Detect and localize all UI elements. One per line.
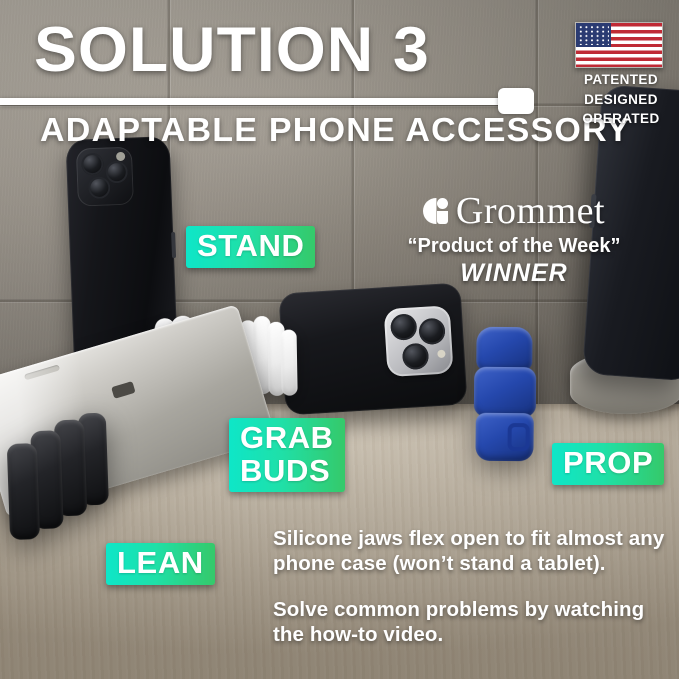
grommet-wordmark: Grommet xyxy=(456,192,605,230)
body-copy: Silicone jaws flex open to fit almost an… xyxy=(273,527,665,647)
logo-stem xyxy=(437,211,448,224)
camera-lens xyxy=(390,313,418,341)
camera-lens xyxy=(105,161,128,184)
camera-lens xyxy=(402,343,430,371)
camera-module xyxy=(76,147,134,207)
copy-paragraph-1: Silicone jaws flex open to fit almost an… xyxy=(273,527,665,576)
flag-badge-line-3: OPERATED xyxy=(575,111,667,127)
feature-badge-prop: PROP xyxy=(552,443,664,485)
camera-lens xyxy=(418,318,446,346)
grip-segment xyxy=(7,443,40,540)
camera-module xyxy=(384,305,454,377)
grommet-logo-icon xyxy=(423,198,449,224)
feature-badge-lean: LEAN xyxy=(106,543,215,585)
product-marketing-image: SOLUTION 3 ADAPTABLE PHONE ACCESSORY PAT… xyxy=(0,0,679,679)
header-divider xyxy=(0,98,508,105)
flag-canton xyxy=(576,23,611,47)
camera-flash xyxy=(116,152,125,161)
us-flag-icon xyxy=(575,22,663,68)
black-phone-landscape xyxy=(278,283,467,416)
camera-flash xyxy=(437,350,445,358)
flag-badge-line-2: DESIGNED xyxy=(575,92,667,108)
logo-dot xyxy=(437,198,448,209)
flag-stars xyxy=(578,25,609,45)
black-silicone-grip xyxy=(6,418,128,540)
grip-segment xyxy=(474,367,536,418)
blue-silicone-grip xyxy=(473,327,536,464)
camera-lens xyxy=(81,153,104,176)
made-in-usa-badge: PATENTED DESIGNED OPERATED xyxy=(575,22,667,127)
award-quote: “Product of the Week” xyxy=(398,235,630,257)
award-winner-label: WINNER xyxy=(398,260,630,287)
page-title: SOLUTION 3 xyxy=(34,18,430,82)
grip-notch xyxy=(508,423,530,451)
grip-segment xyxy=(476,327,532,371)
feature-badge-grab-buds: GRAB BUDS xyxy=(229,418,345,492)
award-block: Grommet “Product of the Week” WINNER xyxy=(398,192,630,287)
flag-badge-line-1: PATENTED xyxy=(575,72,667,88)
grip-segment xyxy=(281,330,298,396)
grommet-lockup: Grommet xyxy=(398,192,630,230)
camera-lens xyxy=(88,176,111,199)
page-subtitle: ADAPTABLE PHONE ACCESSORY xyxy=(40,112,631,148)
copy-paragraph-2: Solve common problems by watching the ho… xyxy=(273,598,665,647)
feature-badge-stand: STAND xyxy=(186,226,315,268)
